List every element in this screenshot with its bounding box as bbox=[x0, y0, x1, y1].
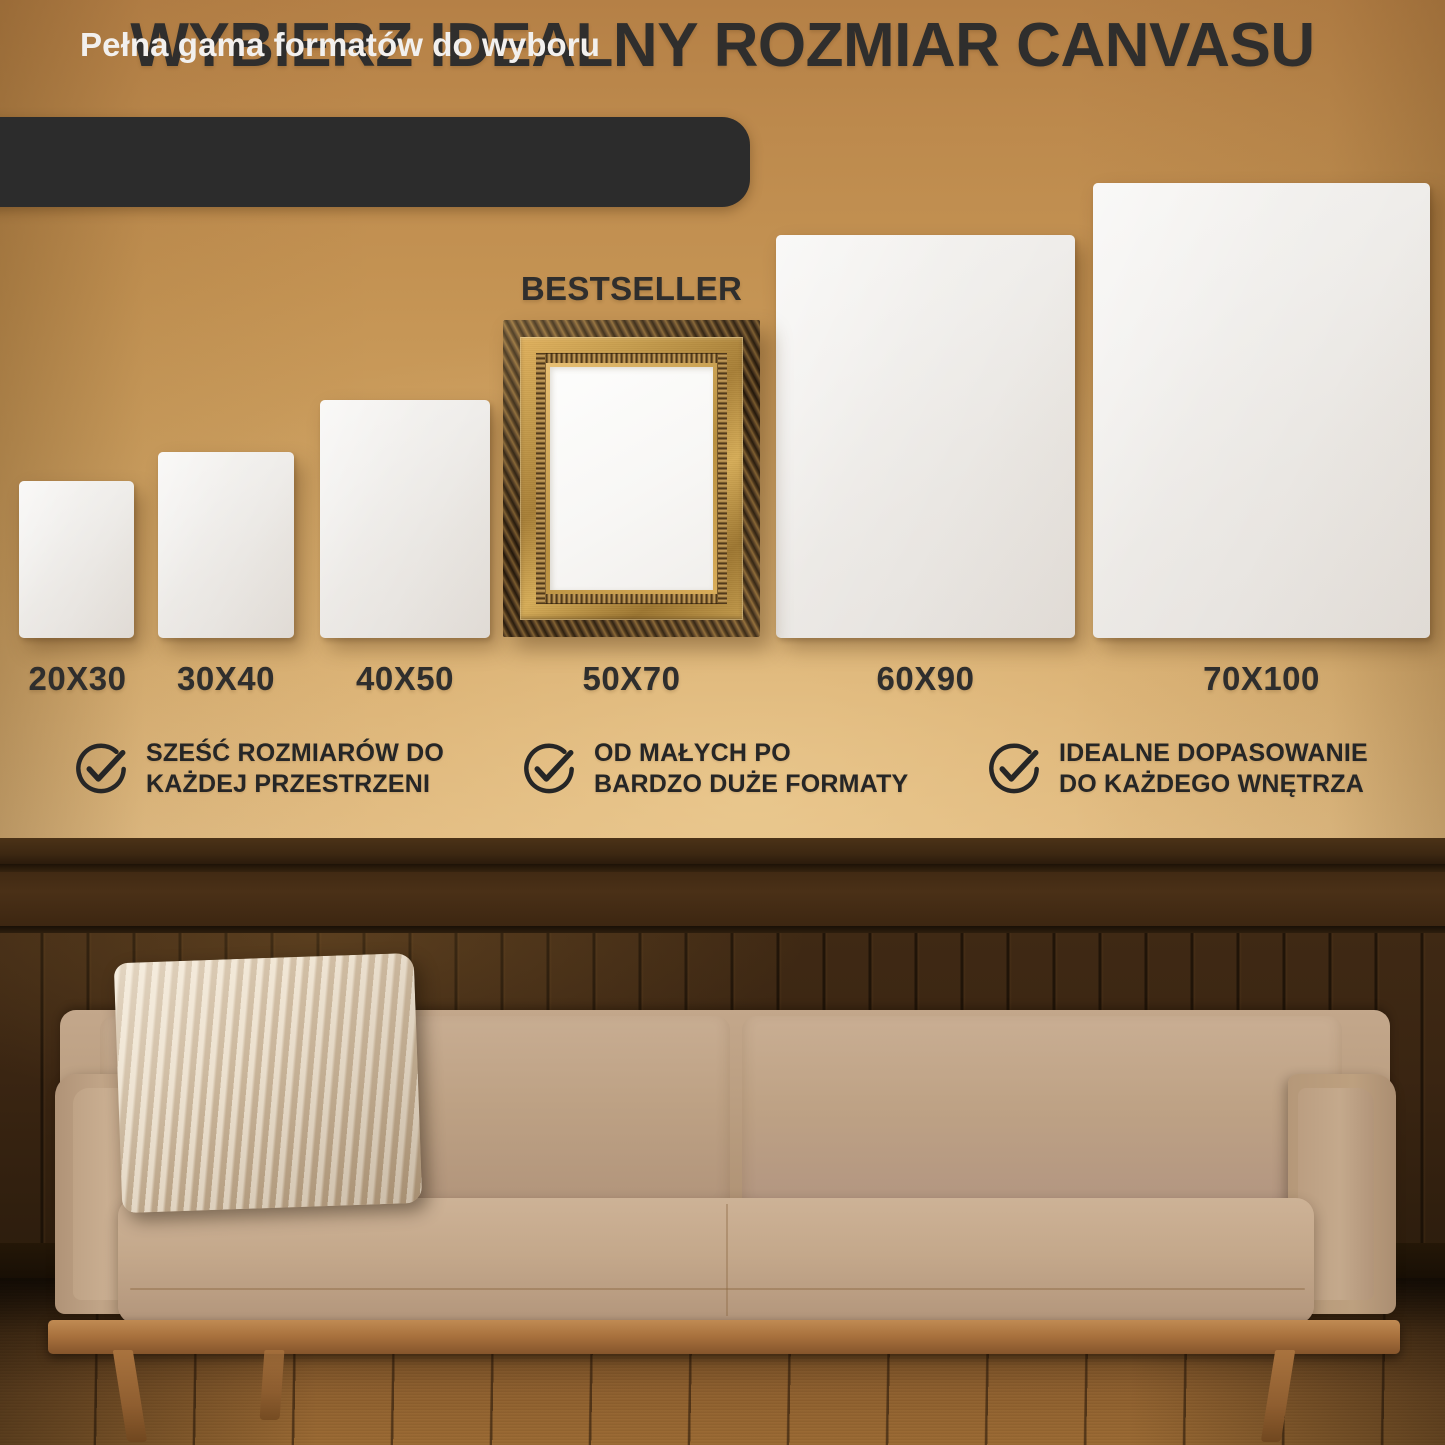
size-label-40x50: 40X50 bbox=[315, 660, 495, 698]
size-label-20x30: 20X30 bbox=[0, 660, 155, 698]
sofa-seat-seam bbox=[130, 1288, 1305, 1290]
subtitle-pill bbox=[0, 117, 750, 207]
feature-line-2: KAŻDEJ PRZESTRZENI bbox=[146, 769, 444, 800]
sofa-leg-front-left bbox=[113, 1350, 148, 1442]
canvas-preview-70x100[interactable] bbox=[1093, 183, 1430, 638]
size-label-60x90: 60X90 bbox=[776, 660, 1075, 698]
sofa-back-cushion-right bbox=[742, 1016, 1342, 1216]
check-circle-icon bbox=[72, 740, 130, 798]
feature-line-2: BARDZO DUŻE FORMATY bbox=[594, 769, 908, 800]
feature-item-1: SZEŚĆ ROZMIARÓW DOKAŻDEJ PRZESTRZENI bbox=[72, 738, 444, 800]
ribbed-throw-pillow bbox=[114, 953, 423, 1213]
frame-inner-canvas bbox=[550, 367, 713, 590]
sofa-seat-divider bbox=[726, 1204, 728, 1316]
feature-item-3: IDEALNE DOPASOWANIEDO KAŻDEGO WNĘTRZA bbox=[985, 738, 1368, 800]
size-label-30x40: 30X40 bbox=[146, 660, 306, 698]
check-circle-icon bbox=[985, 740, 1043, 798]
feature-line-1: OD MAŁYCH PO bbox=[594, 738, 908, 769]
sofa-leg-back-left bbox=[260, 1350, 285, 1420]
feature-text-1: SZEŚĆ ROZMIARÓW DOKAŻDEJ PRZESTRZENI bbox=[146, 738, 444, 800]
sofa-wooden-base bbox=[48, 1320, 1400, 1354]
size-label-70x100: 70X100 bbox=[1093, 660, 1430, 698]
sofa-seat-cushion bbox=[118, 1198, 1314, 1324]
canvas-preview-20x30[interactable] bbox=[19, 481, 134, 638]
bestseller-badge: BESTSELLER bbox=[503, 270, 760, 308]
canvas-preview-40x50[interactable] bbox=[320, 400, 490, 638]
check-circle-icon bbox=[520, 740, 578, 798]
feature-item-2: OD MAŁYCH POBARDZO DUŻE FORMATY bbox=[520, 738, 908, 800]
feature-text-2: OD MAŁYCH POBARDZO DUŻE FORMATY bbox=[594, 738, 908, 800]
subtitle-pill-label: Pełna gama formatów do wyboru bbox=[80, 0, 600, 90]
canvas-preview-60x90[interactable] bbox=[776, 235, 1075, 638]
feature-line-1: IDEALNE DOPASOWANIE bbox=[1059, 738, 1368, 769]
poster-canvas-size-guide: WYBIERZ IDEALNY ROZMIAR CANVASU Pełna ga… bbox=[0, 0, 1445, 1445]
size-label-50x70: 50X70 bbox=[503, 660, 760, 698]
sofa-leg-front-right bbox=[1261, 1350, 1296, 1442]
feature-line-1: SZEŚĆ ROZMIARÓW DO bbox=[146, 738, 444, 769]
ornate-picture-frame-50x70[interactable] bbox=[503, 320, 760, 637]
feature-line-2: DO KAŻDEGO WNĘTRZA bbox=[1059, 769, 1368, 800]
beige-sofa bbox=[0, 838, 1445, 1445]
canvas-preview-30x40[interactable] bbox=[158, 452, 294, 638]
feature-text-3: IDEALNE DOPASOWANIEDO KAŻDEGO WNĘTRZA bbox=[1059, 738, 1368, 800]
